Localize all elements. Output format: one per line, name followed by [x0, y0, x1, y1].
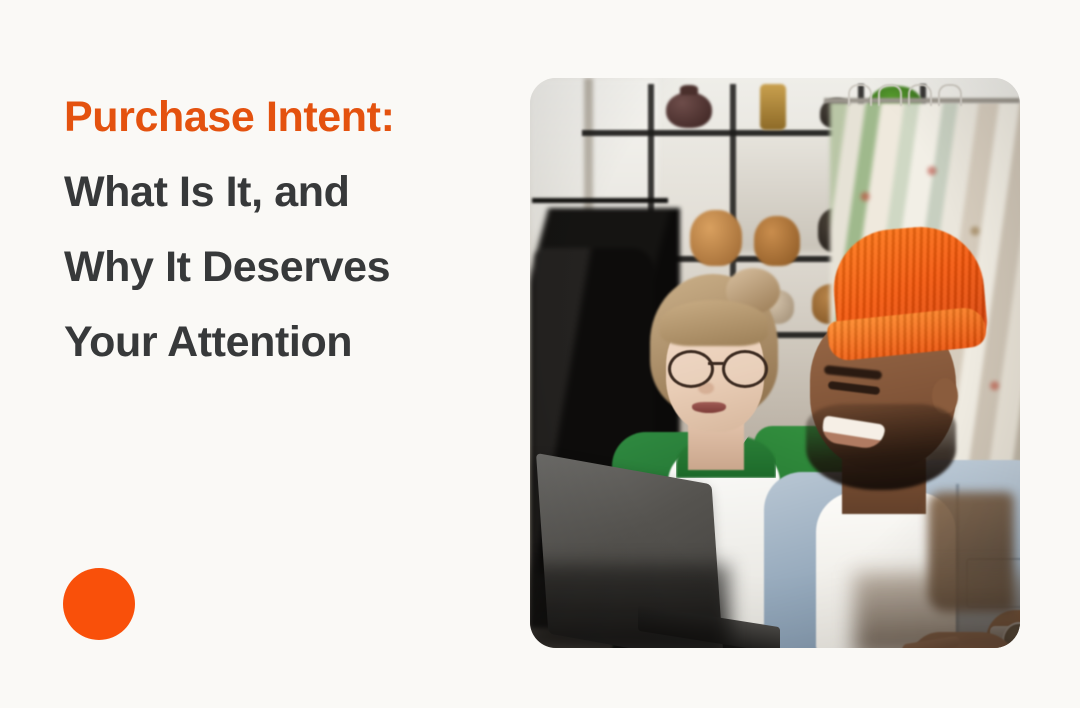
eyeglass-bridge: [708, 362, 724, 365]
clothes-hanger-icon: [848, 84, 872, 106]
woman-fringe: [660, 300, 768, 346]
clothes-hanger-icon: [878, 84, 902, 106]
headline-line-1: Purchase Intent:: [64, 80, 494, 155]
ceramic-pot: [666, 92, 712, 128]
photo-scene: [530, 78, 1020, 648]
poster-canvas: Purchase Intent: What Is It, and Why It …: [0, 0, 1080, 708]
ceramic-pot: [690, 210, 742, 266]
headline-line-2: What Is It, and: [64, 155, 494, 230]
foreground-blur-left: [530, 564, 730, 648]
foreground-blur-right: [854, 572, 1020, 648]
clothes-hanger-icon: [908, 84, 932, 106]
woman-eyeglasses: [666, 350, 770, 382]
hero-photo: [530, 78, 1020, 648]
clothes-hanger-icon: [938, 84, 962, 106]
page-title: Purchase Intent: What Is It, and Why It …: [64, 80, 494, 380]
garment-rail: [532, 198, 668, 203]
eyeglass-lens-right: [722, 350, 768, 388]
headline-line-3: Why It Deserves: [64, 230, 494, 305]
eyeglass-lens-left: [668, 350, 714, 388]
orange-circle-decoration: [63, 568, 135, 640]
ceramic-vase: [760, 84, 786, 130]
woman-mouth: [692, 402, 726, 413]
headline-line-4: Your Attention: [64, 305, 494, 380]
